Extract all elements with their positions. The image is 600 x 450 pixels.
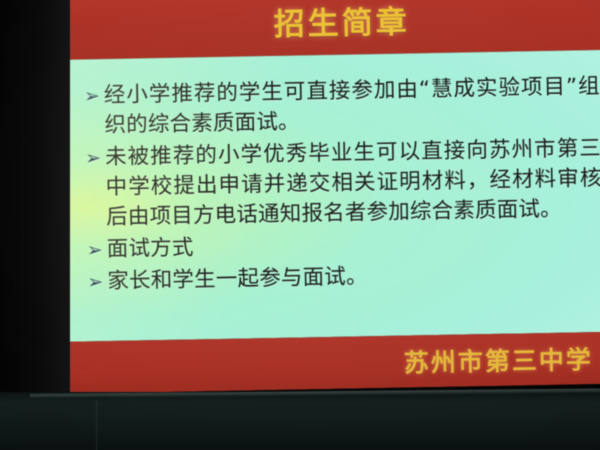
bullet-text: 未被推荐的小学优秀毕业生可以直接向苏州市第三中学校提出申请并递交相关证明材料，经… <box>105 134 600 233</box>
list-item: ➢ 经小学推荐的学生可直接参加由“慧成实验项目”组织的综合素质面试。 <box>84 72 600 141</box>
list-item: ➢ 未被推荐的小学优秀毕业生可以直接向苏州市第三中学校提出申请并递交相关证明材料… <box>85 134 600 233</box>
wall-panel-seam <box>96 400 97 450</box>
presentation-slide: 招生简章 ➢ 经小学推荐的学生可直接参加由“慧成实验项目”组织的综合素质面试。 … <box>52 0 600 394</box>
slide-footer-school-name: 苏州市第三中学 <box>404 340 594 379</box>
arrow-bullet-icon: ➢ <box>85 143 106 173</box>
slide-body: ➢ 经小学推荐的学生可直接参加由“慧成实验项目”组织的综合素质面试。 ➢ 未被推… <box>53 50 600 342</box>
bullet-text: 经小学推荐的学生可直接参加由“慧成实验项目”组织的综合素质面试。 <box>104 72 600 141</box>
slide-footer-bar: 苏州市第三中学 <box>58 332 600 394</box>
bullet-text: 家长和学生一起参与面试。 <box>107 258 600 297</box>
room-wall-left <box>0 0 70 450</box>
room-wall-below-screen <box>0 392 600 450</box>
arrow-bullet-icon: ➢ <box>87 267 108 297</box>
slide-title: 招生简章 <box>273 0 410 43</box>
bullet-list: ➢ 经小学推荐的学生可直接参加由“慧成实验项目”组织的综合素质面试。 ➢ 未被推… <box>84 72 600 297</box>
projected-slide-photo: 招生简章 ➢ 经小学推荐的学生可直接参加由“慧成实验项目”组织的综合素质面试。 … <box>0 0 600 450</box>
arrow-bullet-icon: ➢ <box>87 235 108 265</box>
arrow-bullet-icon: ➢ <box>84 81 105 111</box>
